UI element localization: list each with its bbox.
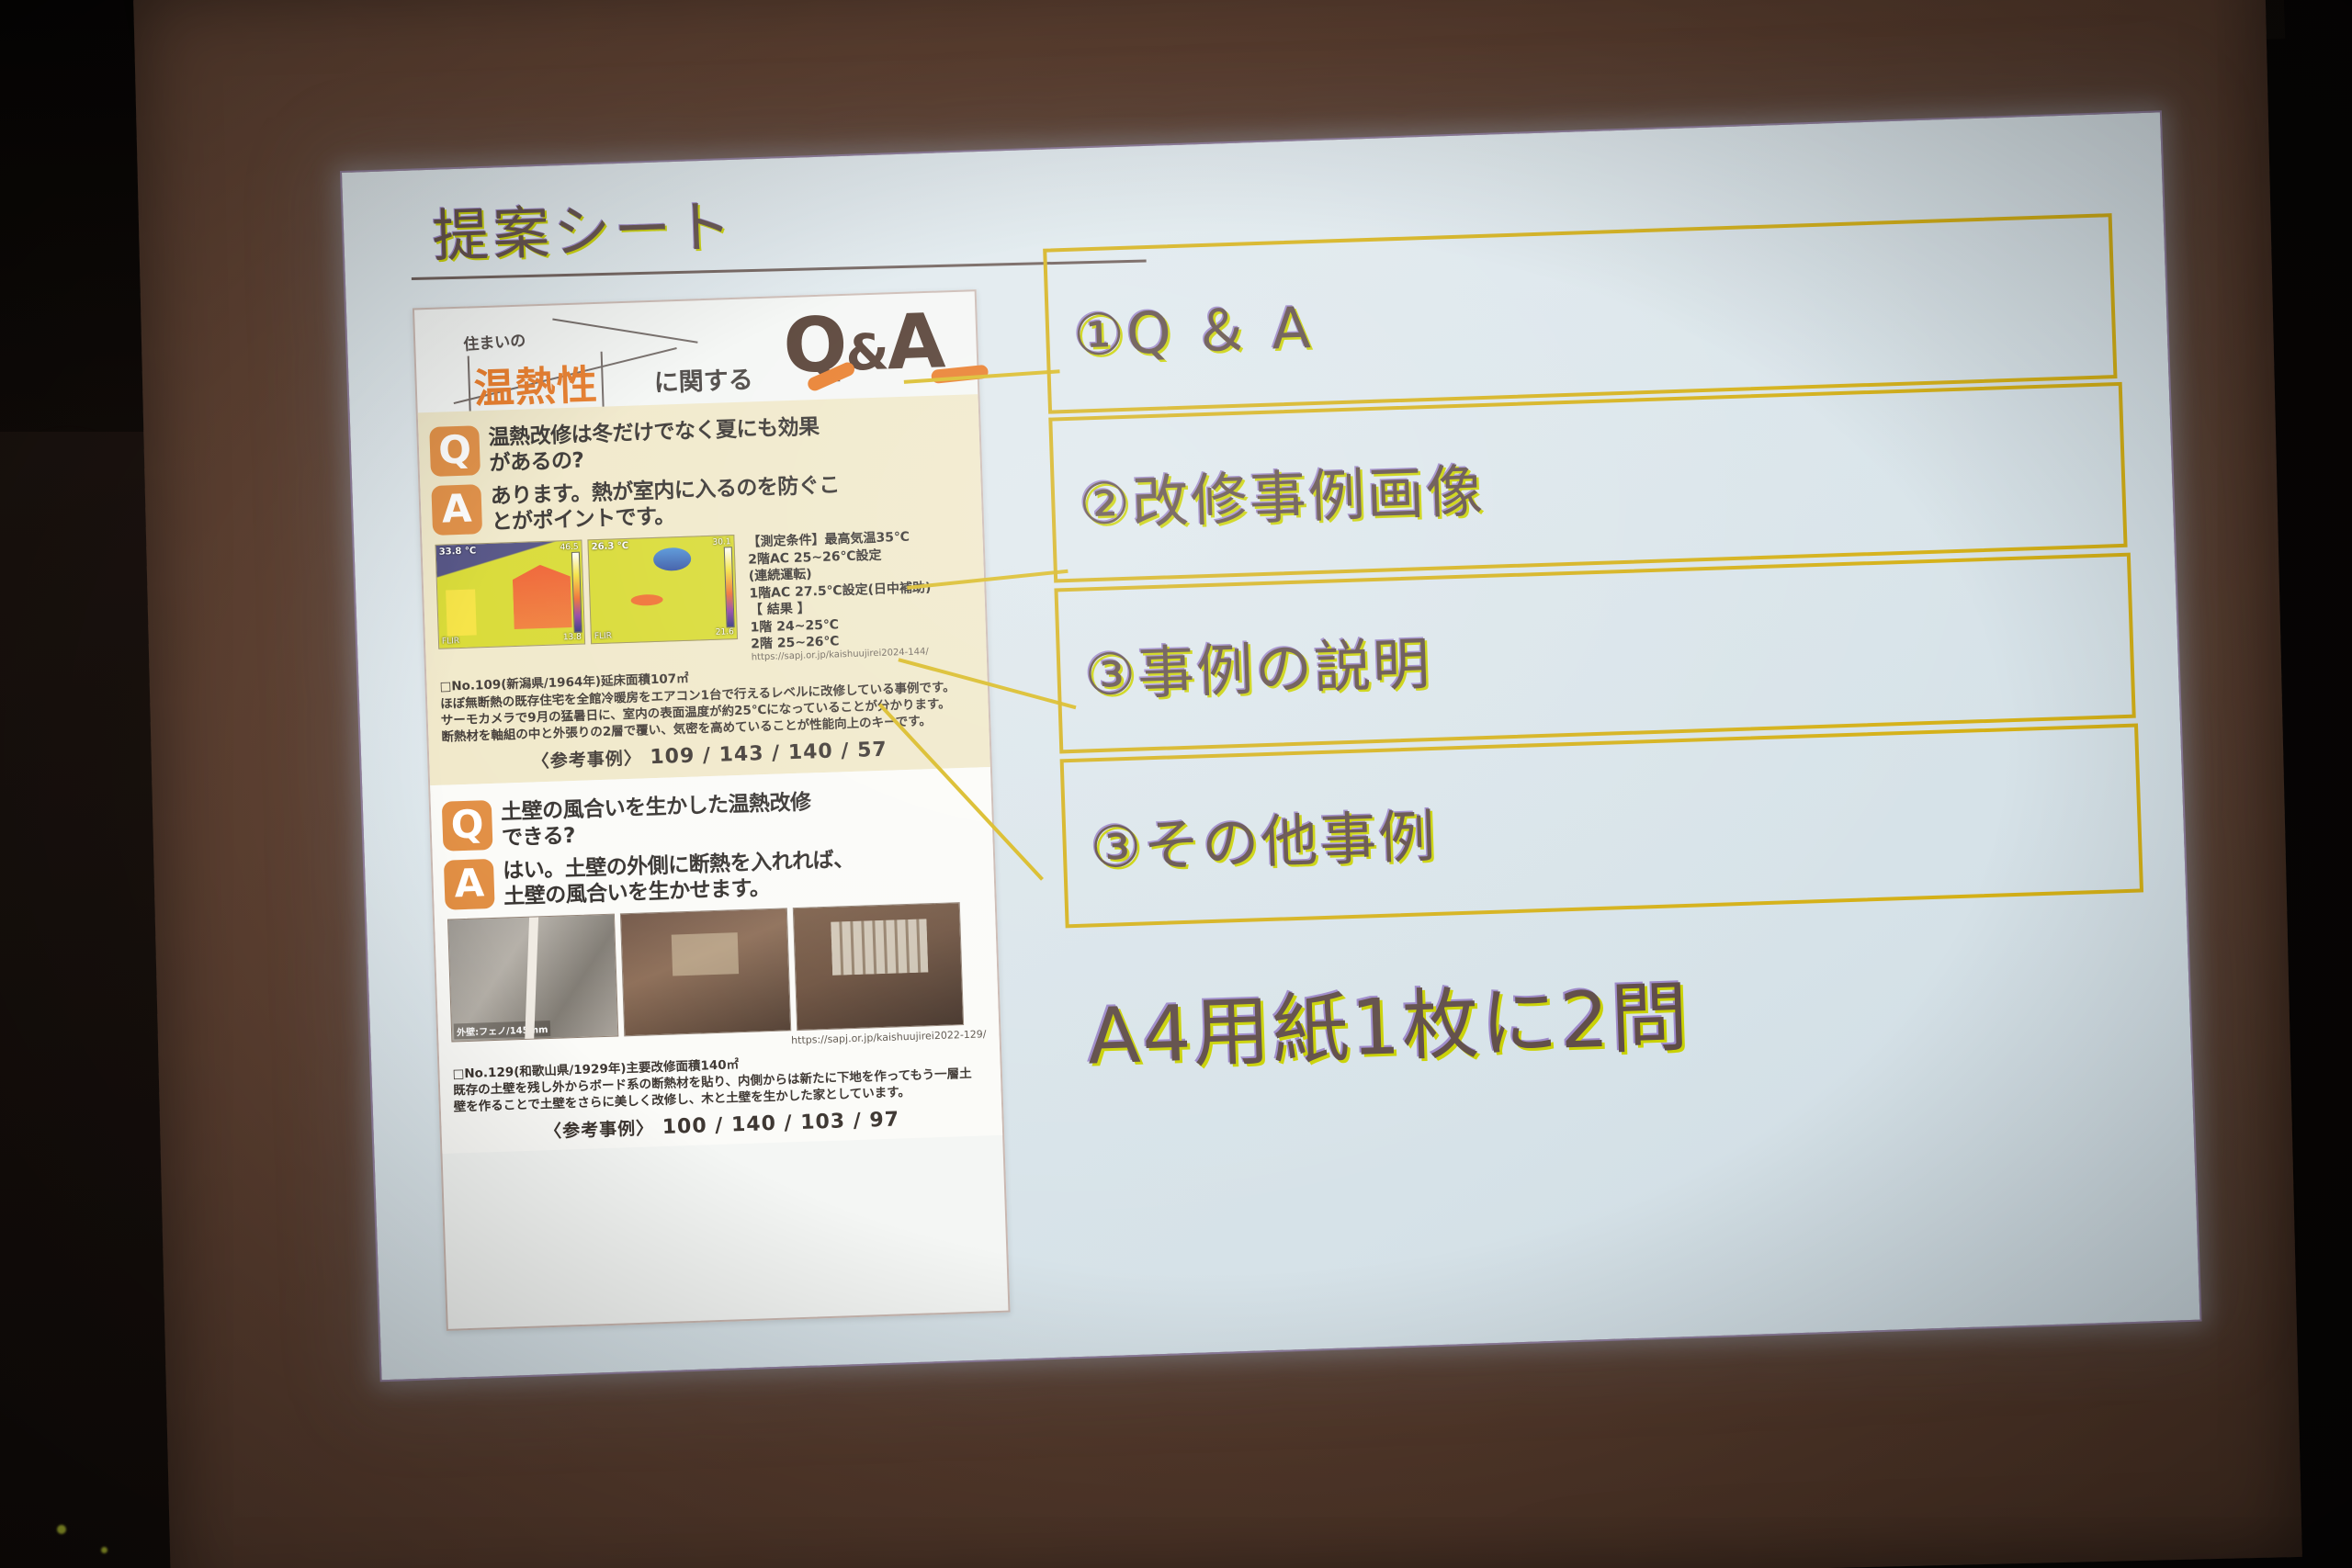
thermal-brand-label: FLIR	[442, 637, 459, 647]
sheet-header-sumai: 住まいの	[462, 327, 526, 355]
projected-slide: 提案シート 住まいの 温熱性 に関する Q&A Q 温熱改修は冬だけでなく夏にも…	[342, 112, 2200, 1380]
callout-label-1: ①Q ＆ A	[1072, 281, 1314, 372]
reference-cases-values: 100 / 140 / 103 / 97	[661, 1109, 899, 1140]
thermal-max-temp: 46.5	[560, 543, 578, 553]
thermal-image-interior: 26.3 °C 30.1 21.6 FLIR	[587, 535, 738, 644]
thermal-image-group: 33.8 °C 46.5 13.8 FLIR 26.3 °C 30.1 21.6…	[422, 521, 987, 673]
thermal-image-exterior: 33.8 °C 46.5 13.8 FLIR	[435, 540, 585, 649]
thermal-min-temp: 13.8	[563, 633, 582, 643]
roof-line-right	[552, 318, 697, 343]
callout-box-1[interactable]: ①Q ＆ A	[1043, 213, 2117, 413]
light-speck	[57, 1525, 66, 1534]
thermal-max-temp: 30.1	[712, 537, 730, 547]
thermal-main-temp: 33.8 °C	[439, 547, 477, 558]
qa-logo: Q&A	[782, 298, 944, 390]
reference-cases-label: 〈参考事例〉	[544, 1119, 655, 1143]
thermal-color-scale	[724, 547, 735, 627]
sheet-header-kansuru: に関する	[653, 359, 753, 399]
footer-note: A4用紙1枚に2問	[1085, 955, 1690, 1087]
callout-box-3[interactable]: ③事例の説明	[1054, 553, 2135, 754]
answer-text: はい。土壁の外側に断熱を入れれば、 土壁の風合いを生かせます。	[503, 847, 855, 910]
callout-label-4: ③その他事例	[1089, 790, 1438, 884]
thermal-main-temp: 26.3 °C	[591, 541, 628, 552]
thermal-min-temp: 21.6	[716, 627, 734, 637]
answer-badge: A	[444, 859, 495, 910]
case-source-url: https://sapj.or.jp/kaishuujirei2022-129/	[791, 1028, 987, 1046]
reference-cases-values: 109 / 143 / 140 / 57	[650, 738, 888, 769]
qa-block-1: Q 温熱改修は冬だけでなく夏にも効果 があるの? A あります。熱が室内に入るの…	[418, 394, 990, 785]
renovation-photo-group: 外壁:フェノ/145mm	[435, 896, 999, 1043]
answer-badge: A	[431, 484, 482, 536]
question-text: 温熱改修は冬だけでなく夏にも効果 があるの?	[488, 414, 820, 477]
callout-box-4[interactable]: ③その他事例	[1060, 724, 2143, 929]
proposal-sheet-thumbnail: 住まいの 温熱性 に関する Q&A Q 温熱改修は冬だけでなく夏にも効果 がある…	[413, 289, 1011, 1331]
renovation-photo-interior-2	[793, 902, 964, 1031]
sheet-header: 住まいの 温熱性 に関する Q&A	[414, 291, 978, 412]
thermal-brand-label: FLIR	[594, 632, 612, 642]
thermal-color-scale	[571, 552, 582, 633]
reference-cases-label: 〈参考事例〉	[531, 748, 642, 772]
measurement-conditions: 【測定条件】最高気温35℃ 2階AC 25~26℃設定 (連続運転) 1階AC …	[740, 527, 978, 654]
measurement-conditions-column: 【測定条件】最高気温35℃ 2階AC 25~26℃設定 (連続運転) 1階AC …	[740, 527, 979, 664]
question-text: 土壁の風合いを生かした温熱改修 できる?	[501, 789, 812, 851]
page-title: 提案シート	[431, 180, 737, 273]
callout-label-3: ③事例の説明	[1083, 617, 1432, 711]
callout-box-2[interactable]: ②改修事例画像	[1048, 382, 2127, 583]
qa-block-2: Q 土壁の風合いを生かした温熱改修 できる? A はい。土壁の外側に断熱を入れれ…	[430, 767, 1002, 1154]
question-badge: Q	[442, 800, 493, 852]
light-speck	[101, 1547, 107, 1553]
renovation-photo-exterior: 外壁:フェノ/145mm	[447, 914, 618, 1043]
photo-of-projected-slide: 提案シート 住まいの 温熱性 に関する Q&A Q 温熱改修は冬だけでなく夏にも…	[0, 0, 2352, 1568]
sheet-header-keyword: 温熱性	[468, 352, 605, 415]
question-badge: Q	[429, 425, 481, 477]
photo-caption: 外壁:フェノ/145mm	[454, 1021, 551, 1039]
answer-text: あります。熱が室内に入るのを防ぐこ とがポイントです。	[490, 472, 841, 536]
renovation-photo-interior-1	[620, 908, 791, 1036]
callout-label-2: ②改修事例画像	[1078, 445, 1486, 541]
